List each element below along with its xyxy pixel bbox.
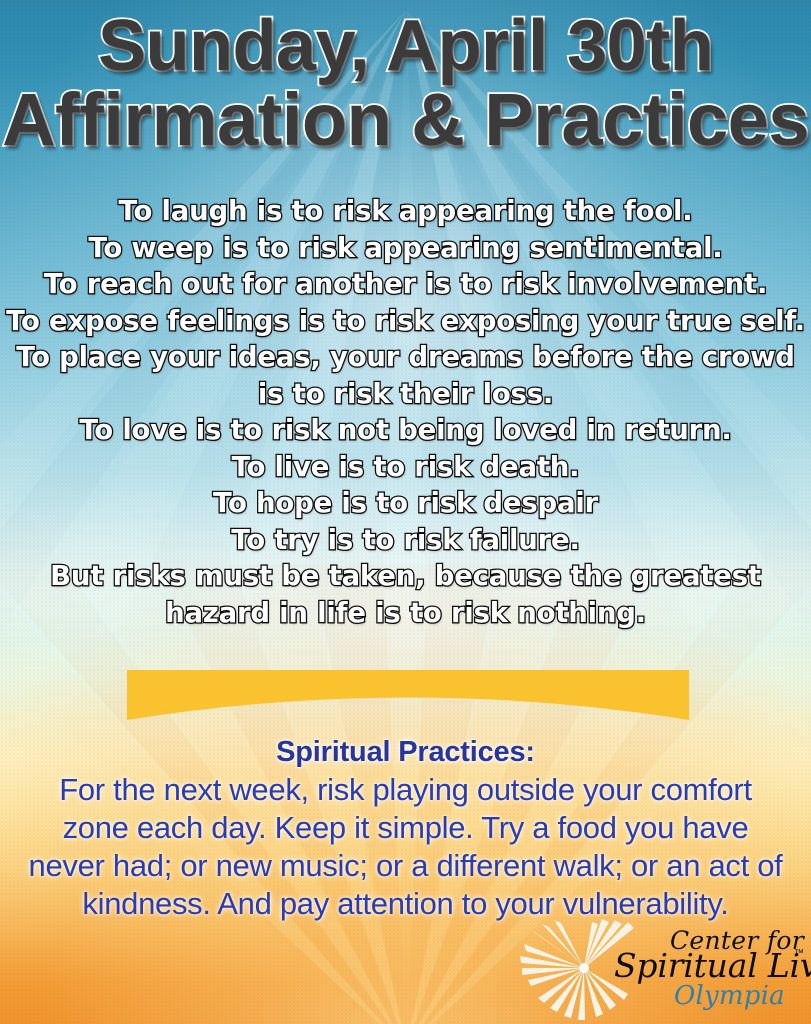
poster-canvas: Sunday, April 30th Affirmation & Practic… xyxy=(0,0,811,1024)
organization-logo: Center for Spiritual Living ™ Olympia xyxy=(518,918,806,1022)
practices-line: For the next week, risk playing outside … xyxy=(0,771,811,809)
practices-line: zone each day. Keep it simple. Try a foo… xyxy=(0,809,811,847)
title-line-subject: Affirmation & Practices xyxy=(0,84,811,156)
logo-spiritual-living-text: Spiritual Living xyxy=(614,946,811,985)
poem-line: To laugh is to risk appearing the fool. xyxy=(0,193,811,230)
logo-olympia-text: Olympia xyxy=(674,981,785,1011)
poem-line: To live is to risk death. xyxy=(0,449,811,486)
trademark-icon: ™ xyxy=(794,948,804,959)
poem-line: To weep is to risk appearing sentimental… xyxy=(0,230,811,267)
section-divider xyxy=(127,670,689,720)
poem-line: To love is to risk not being loved in re… xyxy=(0,412,811,449)
poster-title: Sunday, April 30th Affirmation & Practic… xyxy=(0,12,811,156)
poem-line: To expose feelings is to risk exposing y… xyxy=(0,303,811,340)
poem-line: is to risk their loss. xyxy=(0,376,811,413)
poem-line: hazard in life is to risk nothing. xyxy=(0,595,811,632)
spiritual-practices-section: Spiritual Practices: For the next week, … xyxy=(0,733,811,923)
title-line-date: Sunday, April 30th xyxy=(0,12,811,82)
poem-line: To place your ideas, your dreams before … xyxy=(0,339,811,376)
logo-wordmark: Center for Spiritual Living ™ Olympia xyxy=(618,918,806,1022)
poem-line: But risks must be taken, because the gre… xyxy=(0,558,811,595)
poem-line: To reach out for another is to risk invo… xyxy=(0,266,811,303)
affirmation-poem: To laugh is to risk appearing the fool. … xyxy=(0,193,811,631)
practices-line: never had; or new music; or a different … xyxy=(0,847,811,885)
poem-line: To hope is to risk despair xyxy=(0,485,811,522)
practices-heading: Spiritual Practices: xyxy=(0,733,811,771)
poem-line: To try is to risk failure. xyxy=(0,522,811,559)
